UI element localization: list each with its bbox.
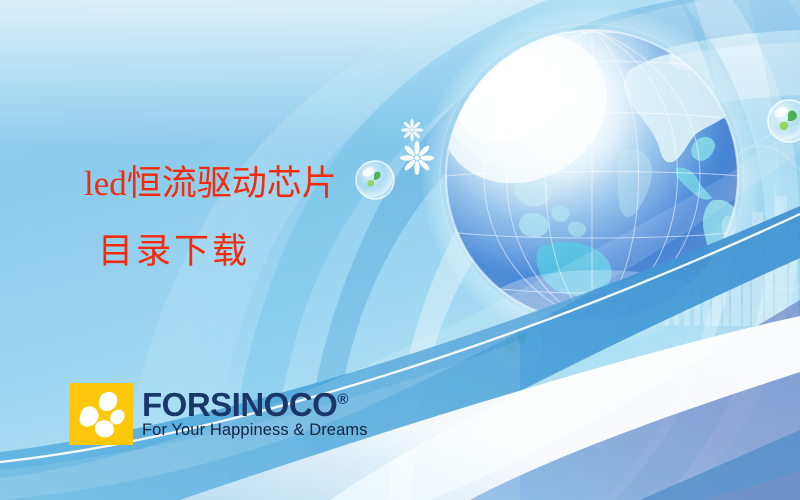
- wireframe-arcs: [703, 126, 800, 303]
- headline-line-2: 目录下载: [98, 234, 504, 270]
- longitude-lines: [484, 30, 700, 322]
- brand-logo-lockup[interactable]: FORSINOCO® For Your Happiness & Dreams: [69, 383, 368, 445]
- swoosh-violet-band: [430, 300, 800, 500]
- soap-bubble-bottom: [495, 322, 541, 368]
- four-petal-pinwheel-flower-icon: [69, 383, 133, 445]
- logo-wordmark-text: FORSINOCO: [142, 386, 337, 423]
- logo-wordmark: FORSINOCO®: [142, 389, 368, 420]
- logo-tagline: For Your Happiness & Dreams: [142, 421, 368, 440]
- logo-text-block: FORSINOCO® For Your Happiness & Dreams: [142, 389, 368, 440]
- swoosh-dark-edge: [640, 430, 800, 500]
- soap-bubble-right: [768, 100, 800, 142]
- swoosh-violet-edge: [700, 470, 800, 500]
- registered-trademark-icon: ®: [337, 391, 348, 408]
- headline-line-1: led恒流驱动芯片: [84, 166, 504, 202]
- white-asterisk-flower-small: [401, 119, 423, 141]
- promo-banner: led恒流驱动芯片 目录下载 FORSINOCO® For Your Happ: [0, 0, 800, 500]
- city-skyline-silhouette: [600, 186, 798, 336]
- top-light-wash: [0, 0, 800, 150]
- headline-text: led恒流驱动芯片 目录下载: [84, 166, 504, 270]
- pinwheel-petals: [69, 383, 133, 445]
